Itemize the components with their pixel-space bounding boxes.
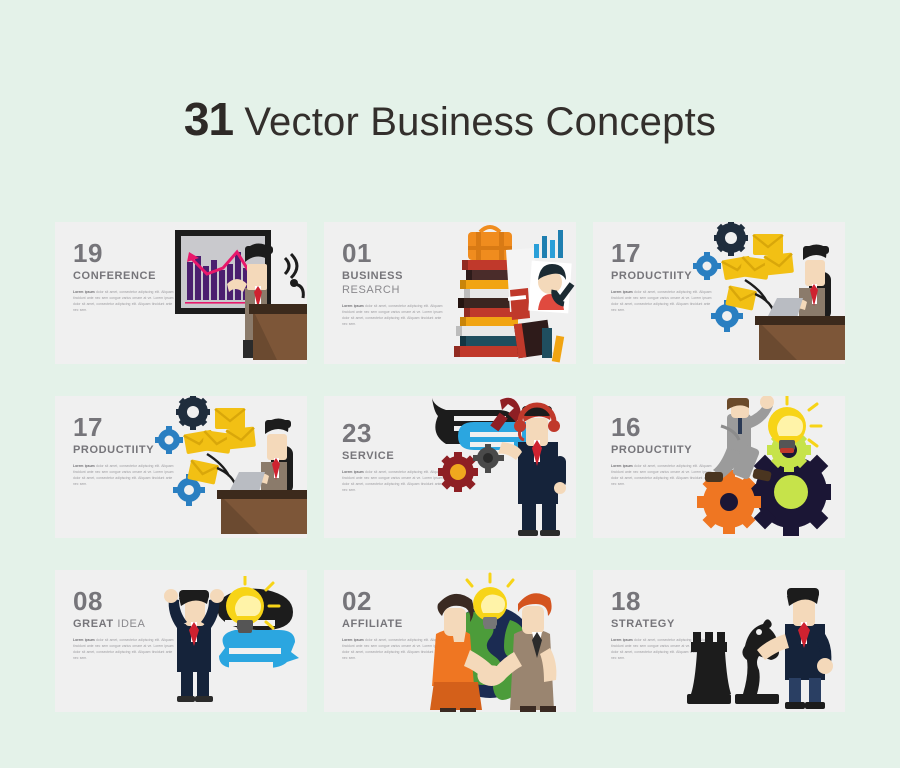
lorem-lead: Lorem ipsum [342, 470, 364, 474]
card-label-line1: SERVICE [342, 450, 394, 462]
concept-card[interactable]: 18 STRATEGY Lorem ipsum dolor sit amet, … [593, 570, 845, 712]
card-label-line1: PRODUCTIITY [611, 270, 692, 282]
card-label-line1: GREAT [73, 618, 114, 630]
card-label: BUSINESSRESARCH [342, 270, 454, 298]
concept-card[interactable]: 19 CONFERENCE Lorem ipsum dolor sit amet… [55, 222, 307, 364]
lorem-lead: Lorem ipsum [611, 464, 633, 468]
card-label-line1: PRODUCTIITY [73, 444, 154, 456]
lorem-lead: Lorem ipsum [342, 638, 364, 642]
great-idea-illustration [161, 576, 301, 704]
lorem-lead: Lorem ipsum [611, 290, 633, 294]
lorem-lead: Lorem ipsum [611, 638, 633, 642]
lorem-lead: Lorem ipsum [73, 290, 95, 294]
card-label-line2: IDEA [117, 618, 145, 630]
concept-card[interactable]: 08 GREAT IDEA Lorem ipsum dolor sit amet… [55, 570, 307, 712]
card-label-line1: CONFERENCE [73, 270, 156, 282]
card-label-line2: RESARCH [342, 284, 454, 298]
card-number: 01 [342, 240, 454, 267]
page-title-text: Vector Business Concepts [233, 100, 716, 144]
strategy-chess-illustration [687, 580, 835, 712]
service-support-illustration [428, 396, 568, 538]
page-title-number: 31 [184, 93, 233, 145]
card-label-line1: BUSINESS [342, 270, 403, 282]
lorem-lead: Lorem ipsum [73, 638, 95, 642]
concept-card[interactable]: 23 SERVICE Lorem ipsum dolor sit amet, c… [324, 396, 576, 538]
concept-card[interactable]: 02 AFFILIATE Lorem ipsum dolor sit amet,… [324, 570, 576, 712]
card-label-line1: AFFILIATE [342, 618, 403, 630]
business-research-illustration [442, 222, 576, 364]
card-label-line1: STRATEGY [611, 618, 675, 630]
gears-climb-illustration [691, 396, 831, 538]
productivity-desk-illustration [693, 222, 845, 364]
poster-canvas: 31 Vector Business Concepts 19 CONFERENC… [0, 0, 900, 768]
productivity-desk-illustration [155, 396, 307, 538]
card-description: Lorem ipsum dolor sit amet, consectetur … [342, 304, 446, 328]
concept-card[interactable]: 16 PRODUCTIITY Lorem ipsum dolor sit ame… [593, 396, 845, 538]
affiliate-handshake-illustration [424, 570, 560, 712]
concept-card[interactable]: 01 BUSINESSRESARCH Lorem ipsum dolor sit… [324, 222, 576, 364]
concept-card-grid: 19 CONFERENCE Lorem ipsum dolor sit amet… [55, 222, 845, 712]
card-text-block: 01 BUSINESSRESARCH Lorem ipsum dolor sit… [342, 240, 454, 328]
page-title: 31 Vector Business Concepts [0, 92, 900, 146]
card-description: Lorem ipsum dolor sit amet, consectetur … [73, 290, 177, 314]
conference-illustration [167, 222, 307, 364]
concept-card[interactable]: 17 PRODUCTIITY Lorem ipsum dolor sit ame… [55, 396, 307, 538]
card-label-line1: PRODUCTIITY [611, 444, 692, 456]
lorem-lead: Lorem ipsum [73, 464, 95, 468]
concept-card[interactable]: 17 PRODUCTIITY Lorem ipsum dolor sit ame… [593, 222, 845, 364]
lorem-lead: Lorem ipsum [342, 304, 364, 308]
